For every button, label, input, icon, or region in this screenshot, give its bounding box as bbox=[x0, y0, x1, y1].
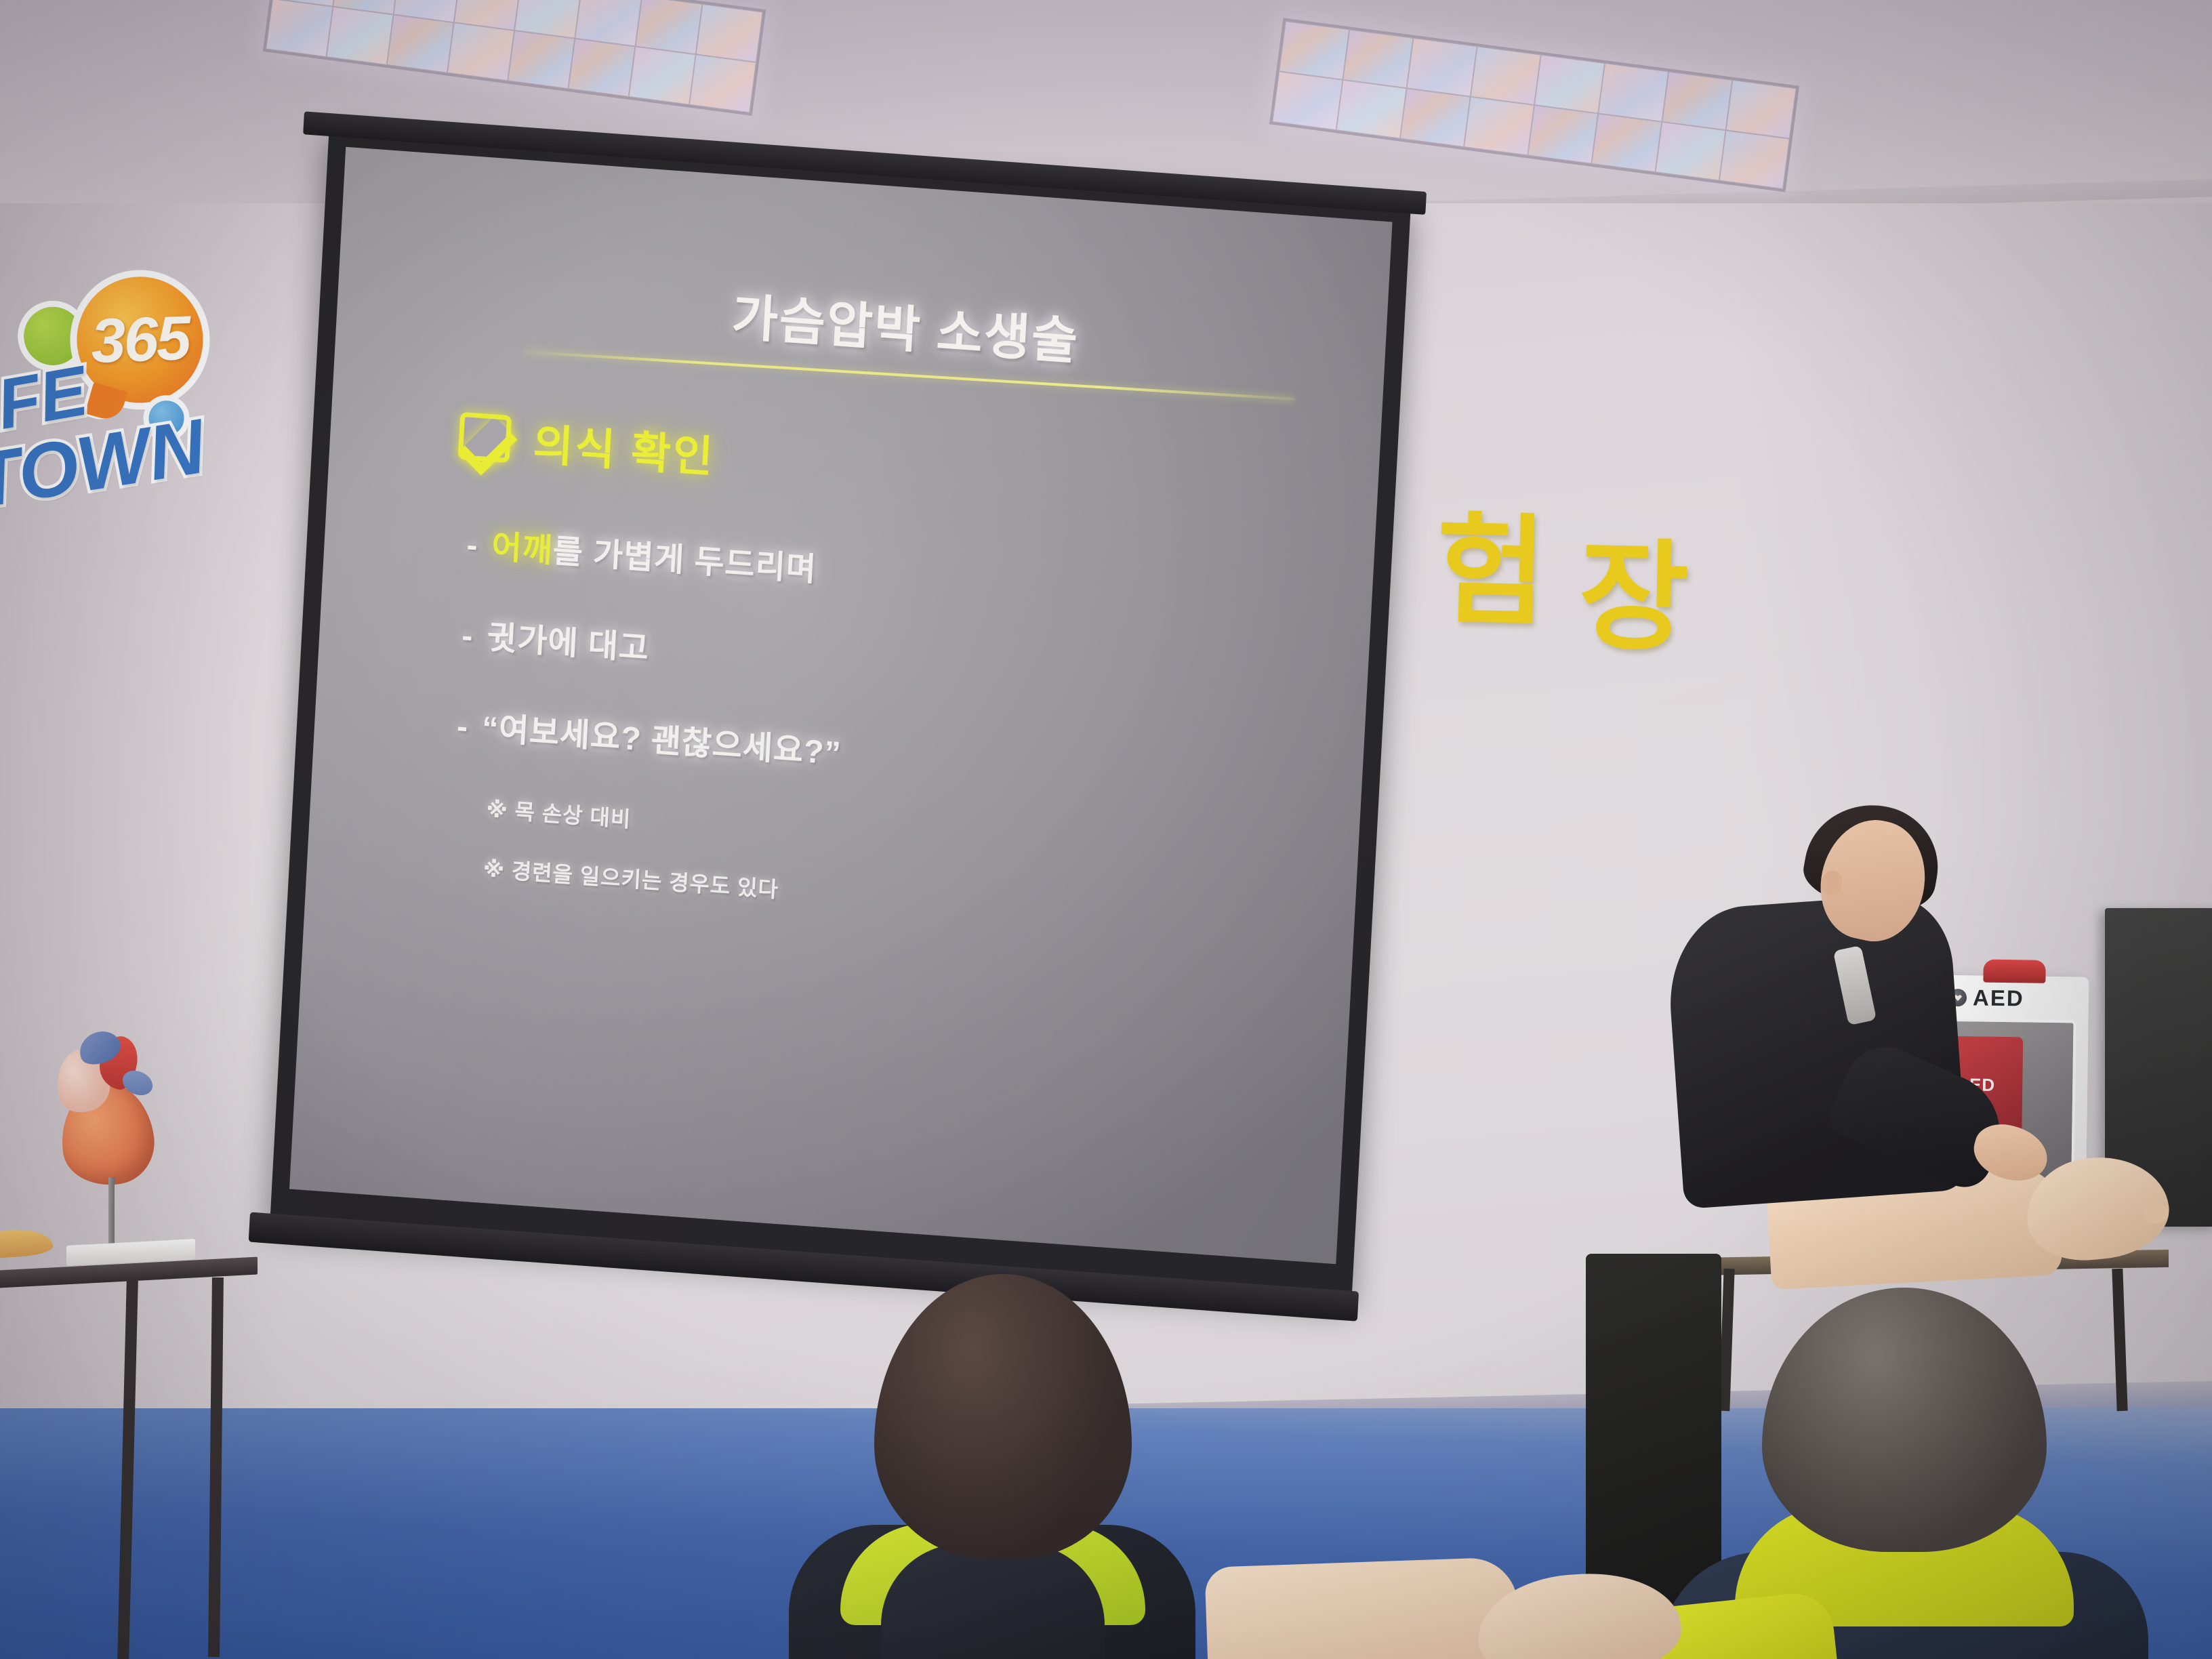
safe-town-logo: 365 AFE TOWN bbox=[0, 269, 247, 508]
slide-bullet-2: -귓가에 대고 bbox=[461, 609, 1307, 716]
side-table-left bbox=[0, 1250, 271, 1659]
bullet-text: 를 가볍게 두드리며 bbox=[552, 533, 817, 588]
slide-bullet-3: -“여보세요? 괜찮으세요?” bbox=[456, 699, 1303, 807]
student-hair bbox=[874, 1274, 1132, 1559]
projection-screen: 가슴압박 소생술 의식 확인 -어깨를 가볍게 두드리며 -귓가에 대고 -“여… bbox=[270, 128, 1411, 1302]
slide-note-list: ※ 목 손상 대비 ※ 경련을 일으키는 경우도 있다 bbox=[483, 792, 1297, 941]
slide-section-heading: 의식 확인 bbox=[457, 405, 1318, 529]
table-leg-front bbox=[117, 1280, 138, 1659]
anatomical-heart-model bbox=[52, 1027, 173, 1257]
classroom-photo-scene: 365 AFE TOWN 험 장 가슴압박 소생술 의식 확인 -어깨를 가볍게… bbox=[0, 0, 2212, 1659]
bullet-text: 귓가에 대고 bbox=[486, 619, 650, 667]
logo-365-text: 365 bbox=[75, 274, 205, 405]
logo-speech-bubble-icon: 365 bbox=[75, 274, 205, 405]
bullet-dash: - bbox=[466, 527, 479, 564]
student-jacket-back bbox=[881, 1544, 1105, 1659]
student-hair bbox=[1762, 1288, 2047, 1552]
checkbox-checked-icon bbox=[458, 412, 512, 463]
floor-manikin-torso bbox=[1204, 1557, 1519, 1659]
slide-bullet-list: -어깨를 가볍게 두드리며 -귓가에 대고 -“여보세요? 괜찮으세요?” bbox=[456, 518, 1312, 807]
table-leg-back bbox=[208, 1277, 224, 1657]
wall-sign-char-1: 험 bbox=[1435, 473, 1552, 648]
bullet-dash: - bbox=[456, 709, 470, 745]
slide-section-label: 의식 확인 bbox=[532, 410, 717, 485]
bullet-dash: - bbox=[461, 618, 474, 655]
bullet-highlight: 어깨 bbox=[491, 529, 554, 569]
cpr-manikin-on-floor bbox=[1206, 1535, 1735, 1659]
cpr-instructor bbox=[1667, 820, 2047, 1294]
slide-bullet-1: -어깨를 가볍게 두드리며 bbox=[466, 518, 1312, 626]
bullet-text: “여보세요? 괜찮으세요?” bbox=[481, 710, 842, 772]
wall-sign-char-2: 장 bbox=[1577, 499, 1694, 674]
seated-student-front bbox=[779, 1274, 1200, 1659]
screen-surface: 가슴압박 소생술 의식 확인 -어깨를 가볍게 두드리며 -귓가에 대고 -“여… bbox=[289, 147, 1393, 1264]
presentation-slide: 가슴압박 소생술 의식 확인 -어깨를 가볍게 두드리며 -귓가에 대고 -“여… bbox=[289, 147, 1393, 1264]
